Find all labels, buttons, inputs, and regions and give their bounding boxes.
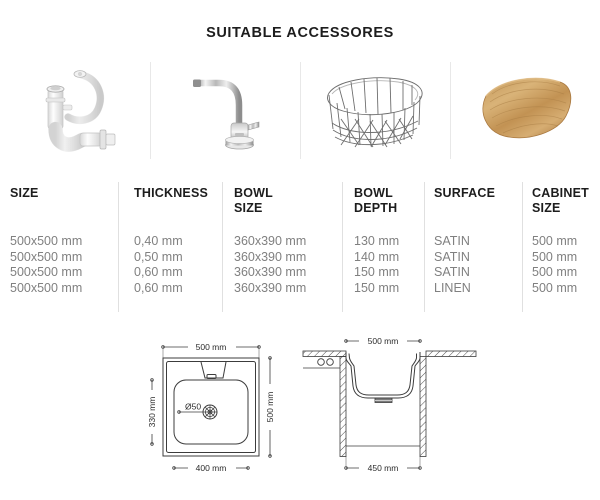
sink-top-view-drawing: Ø50 500 mm 400 mm 330 mm 500 mm [130,328,300,488]
cell: 0,60 mm [134,281,183,297]
spec-column-bowl-depth: BOWL DEPTH 130 mm 140 mm 150 mm 150 mm [342,182,424,312]
column-values-size: 500x500 mm 500x500 mm 500x500 mm 500x500… [10,234,82,296]
column-header-cabinet-size: CABINET SIZE [532,186,589,216]
cell: 360x390 mm [234,234,306,250]
cell: 500x500 mm [10,250,82,266]
cell: 0,50 mm [134,250,183,266]
accessories-strip [0,58,600,163]
dim-top-500: 500 mm [196,342,227,352]
column-divider [118,182,119,312]
siphon-drain-trap-icon [20,61,130,161]
cell: 500 mm [532,281,577,297]
cell: 360x390 mm [234,250,306,266]
column-header-bowl-size: BOWL SIZE [234,186,273,216]
column-divider [342,182,343,312]
kitchen-faucet-icon [175,61,275,161]
cell: SATIN [434,250,471,266]
cell: SATIN [434,265,471,281]
dim-bottom-400: 400 mm [196,463,227,473]
accessory-item-faucet[interactable] [150,58,300,163]
column-values-bowl-depth: 130 mm 140 mm 150 mm 150 mm [354,234,399,296]
accessory-item-basket[interactable] [300,58,450,163]
spec-table: SIZE 500x500 mm 500x500 mm 500x500 mm 50… [0,182,600,312]
drain-grate [203,405,217,419]
column-values-surface: SATIN SATIN SATIN LINEN [434,234,471,296]
column-divider [222,182,223,312]
drain-diameter-label: Ø50 [185,402,201,412]
column-values-thickness: 0,40 mm 0,50 mm 0,60 mm 0,60 mm [134,234,183,296]
cell: 150 mm [354,281,399,297]
cell: 0,60 mm [134,265,183,281]
cell: 0,40 mm [134,234,183,250]
wooden-cutting-board-icon [470,68,580,153]
cell: 500 mm [532,265,577,281]
cell: 500x500 mm [10,234,82,250]
dim-section-top-500: 500 mm [368,336,399,346]
column-divider [522,182,523,312]
page-title: SUITABLE ACCESSORES [0,25,600,41]
column-header-bowl-depth: BOWL DEPTH [354,186,397,216]
spec-column-size: SIZE 500x500 mm 500x500 mm 500x500 mm 50… [10,182,118,312]
accessory-item-cutting-board[interactable] [450,58,600,163]
cell: 500x500 mm [10,265,82,281]
column-header-size: SIZE [10,186,39,201]
column-values-bowl-size: 360x390 mm 360x390 mm 360x390 mm 360x390… [234,234,306,296]
sink-cross-section-drawing: 500 mm 450 mm [300,328,480,488]
cell: 500x500 mm [10,281,82,297]
column-values-cabinet-size: 500 mm 500 mm 500 mm 500 mm [532,234,577,296]
cell: 150 mm [354,265,399,281]
dim-right-500: 500 mm [265,392,275,423]
cell: 140 mm [354,250,399,266]
spec-column-thickness: THICKNESS 0,40 mm 0,50 mm 0,60 mm 0,60 m… [118,182,222,312]
spec-column-cabinet-size: CABINET SIZE 500 mm 500 mm 500 mm 500 mm [522,182,600,312]
cell: SATIN [434,234,471,250]
dim-left-330: 330 mm [147,397,157,428]
spec-column-bowl-size: BOWL SIZE 360x390 mm 360x390 mm 360x390 … [222,182,342,312]
accessory-item-siphon[interactable] [0,58,150,163]
wire-basket-colander-icon [315,67,435,155]
column-header-surface: SURFACE [434,186,495,201]
cell: 360x390 mm [234,265,306,281]
cell: 500 mm [532,234,577,250]
cell: 500 mm [532,250,577,266]
cell: 130 mm [354,234,399,250]
dim-section-bottom-450: 450 mm [368,463,399,473]
technical-drawings: Ø50 500 mm 400 mm 330 mm 500 mm [0,328,600,493]
spec-column-surface: SURFACE SATIN SATIN SATIN LINEN [424,182,522,312]
column-header-thickness: THICKNESS [134,186,208,201]
cell: 360x390 mm [234,281,306,297]
column-divider [424,182,425,312]
cell: LINEN [434,281,471,297]
